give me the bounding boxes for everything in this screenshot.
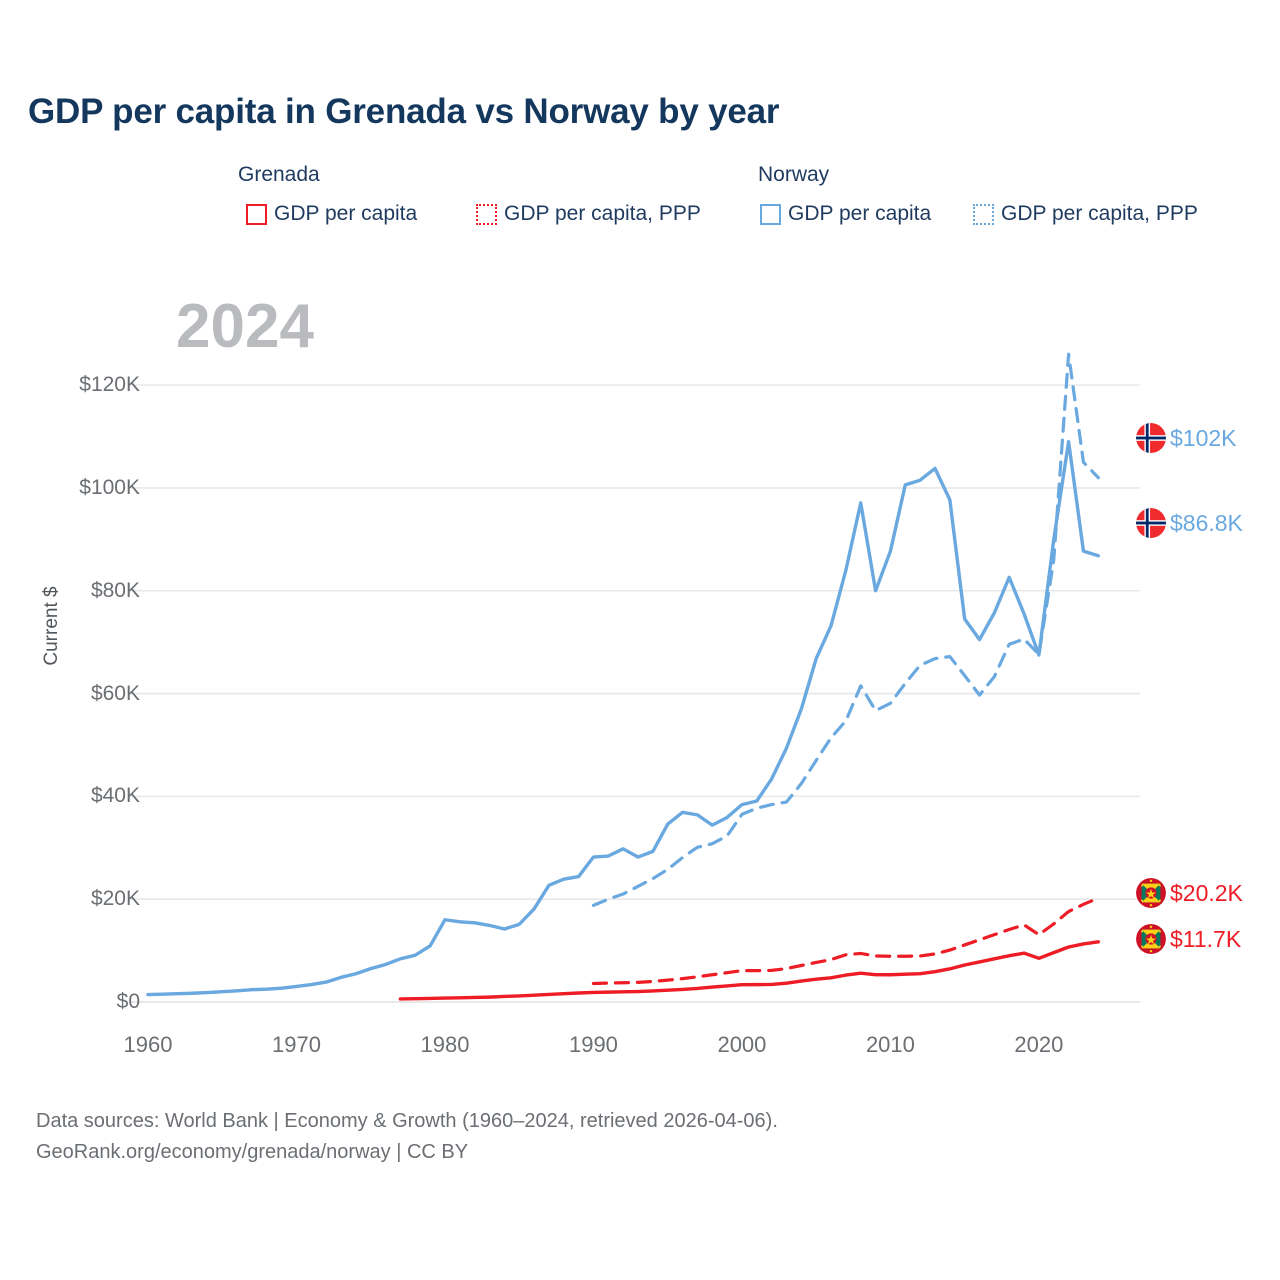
grenada-gdp-end: $11.7K bbox=[1136, 924, 1241, 954]
x-axis-tick-label: 1970 bbox=[272, 1032, 321, 1058]
norway-flag-icon bbox=[1136, 508, 1166, 538]
grenada-ppp-end: $20.2K bbox=[1136, 878, 1243, 908]
y-axis-tick-label: $40K bbox=[40, 784, 140, 808]
y-axis-tick-label: $60K bbox=[40, 682, 140, 706]
x-axis-tick-label: 1960 bbox=[124, 1032, 173, 1058]
y-axis-tick-label: $100K bbox=[40, 476, 140, 500]
y-axis-tick-label: $120K bbox=[40, 373, 140, 397]
norway-flag-icon bbox=[1136, 423, 1166, 453]
y-axis-tick-label: $20K bbox=[40, 887, 140, 911]
end-label-value: $11.7K bbox=[1170, 926, 1241, 953]
footer-attribution: Data sources: World Bank | Economy & Gro… bbox=[36, 1106, 778, 1168]
y-axis-tick-label: $0 bbox=[40, 990, 140, 1014]
x-axis-tick-label: 1980 bbox=[420, 1032, 469, 1058]
series-lines bbox=[148, 354, 1098, 999]
y-axis-tick-label: $80K bbox=[40, 579, 140, 603]
grenada-flag-icon bbox=[1136, 878, 1166, 908]
series-line bbox=[148, 442, 1098, 995]
x-axis-tick-label: 2000 bbox=[717, 1032, 766, 1058]
chart-page: GDP per capita in Grenada vs Norway by y… bbox=[0, 0, 1280, 1280]
norway-ppp-end: $102K bbox=[1136, 423, 1237, 453]
end-label-value: $20.2K bbox=[1170, 880, 1243, 907]
norway-gdp-end: $86.8K bbox=[1136, 508, 1243, 538]
gridlines bbox=[130, 385, 1140, 1002]
series-line bbox=[593, 898, 1098, 983]
end-label-value: $86.8K bbox=[1170, 510, 1243, 537]
plot-area: 2024 Current $ $0$20K$40K$60K$80K$100K$1… bbox=[0, 0, 1280, 1280]
y-axis-ticks: $0$20K$40K$60K$80K$100K$120K bbox=[0, 0, 140, 1280]
footer-line-sources: Data sources: World Bank | Economy & Gro… bbox=[36, 1106, 778, 1137]
end-label-value: $102K bbox=[1170, 425, 1237, 452]
x-axis-tick-label: 1990 bbox=[569, 1032, 618, 1058]
plot-svg bbox=[0, 0, 1280, 1280]
footer-line-url: GeoRank.org/economy/grenada/norway | CC … bbox=[36, 1137, 778, 1168]
x-axis-tick-label: 2020 bbox=[1014, 1032, 1063, 1058]
x-axis-tick-label: 2010 bbox=[866, 1032, 915, 1058]
grenada-flag-icon bbox=[1136, 924, 1166, 954]
